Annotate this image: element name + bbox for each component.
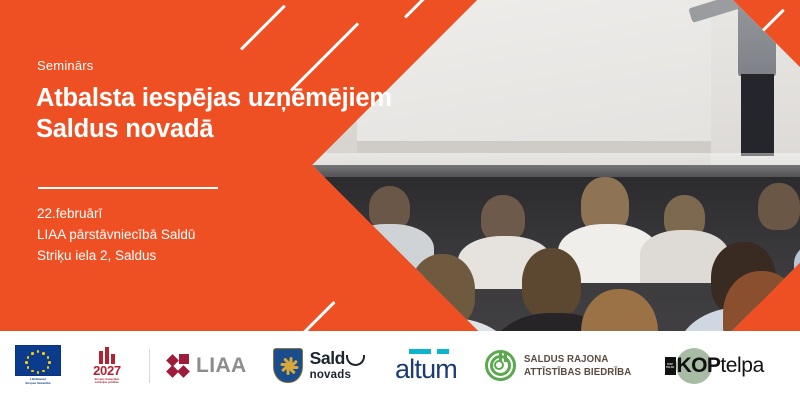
saldus-novads-logo: Saldus Sald novads: [273, 348, 365, 383]
liaa-mark-icon: [168, 354, 191, 377]
funds-caption-line-2: kohēzijas politikas: [95, 381, 119, 384]
event-venue: LIAA pārstāvniecībā Saldū: [37, 224, 195, 245]
saldus-wordmark-visible: Sald: [310, 350, 345, 368]
funds-caption: Eiropas Savienības kohēzijas politikas: [83, 378, 131, 385]
hero-background: Seminārs Atbalsta iespējas uzņēmējiem Sa…: [0, 0, 800, 331]
funds-bars-icon: [99, 347, 115, 364]
srab-spiral-icon: [485, 350, 516, 381]
saldus-coat-of-arms-icon: [273, 348, 303, 383]
diagonal-stroke-decoration: [290, 22, 359, 91]
event-poster-banner: Seminārs Atbalsta iespējas uzņēmējiem Sa…: [0, 0, 800, 400]
saldus-swoosh-icon: [346, 355, 365, 366]
diagonal-stroke-decoration: [240, 5, 286, 51]
eu-flag-icon: [15, 345, 61, 376]
diagonal-stroke-decoration: [301, 301, 336, 331]
eu-funds-2027-logo: 2027 Eiropas Savienības kohēzijas politi…: [83, 347, 131, 385]
title-line-1: Atbalsta iespējas uzņēmējiem: [36, 84, 392, 112]
altum-logo: altum: [395, 349, 457, 382]
eu-flag-logo: Līdzfinansē Eiropas Savienība: [13, 345, 63, 385]
liaa-wordmark: LIAA: [196, 354, 247, 378]
saldus-wordmark-top: Saldus Sald: [310, 350, 365, 368]
koptelpa-wordmark-light: telpa: [720, 354, 764, 378]
saldus-rajona-attistibas-biedriba-logo: SALDUS RAJONA ATTĪSTĪBAS BIEDRĪBA: [485, 350, 641, 381]
srab-line-2: ATTĪSTĪBAS BIEDRĪBA: [524, 366, 631, 379]
srab-wordmark: SALDUS RAJONA ATTĪSTĪBAS BIEDRĪBA: [524, 353, 631, 379]
seminar-photo: [312, 0, 800, 331]
logo-divider: [149, 349, 150, 383]
sponsor-logo-bar: Līdzfinansē Eiropas Savienība 2027 Eirop…: [0, 331, 800, 400]
title-divider-rule: [38, 187, 218, 189]
eu-flag-caption: Līdzfinansē Eiropas Savienība: [13, 378, 63, 385]
page-title: Atbalsta iespējas uzņēmējiem Saldus nova…: [36, 83, 436, 145]
srab-line-1: SALDUS RAJONA: [524, 353, 631, 366]
eu-caption-line-2: Eiropas Savienība: [26, 381, 51, 385]
koptelpa-wordmark-bold: KOP: [677, 354, 721, 378]
funds-year: 2027: [93, 364, 121, 378]
event-address: Striķu iela 2, Saldus: [37, 245, 195, 266]
koptelpa-block-icon: KOPTELPA: [665, 357, 676, 375]
event-date: 22.februārī: [37, 203, 195, 224]
kicker-label: Seminārs: [37, 58, 94, 73]
novads-wordmark: novads: [310, 370, 365, 382]
diagonal-stroke-decoration: [404, 0, 434, 19]
altum-wordmark: altum: [395, 356, 457, 382]
liaa-logo: LIAA: [168, 354, 247, 378]
event-details: 22.februārī LIAA pārstāvniecībā Saldū St…: [37, 203, 195, 266]
title-line-2: Saldus novadā: [36, 115, 213, 143]
koptelpa-logo: KOPTELPA KOP telpa: [665, 354, 764, 378]
